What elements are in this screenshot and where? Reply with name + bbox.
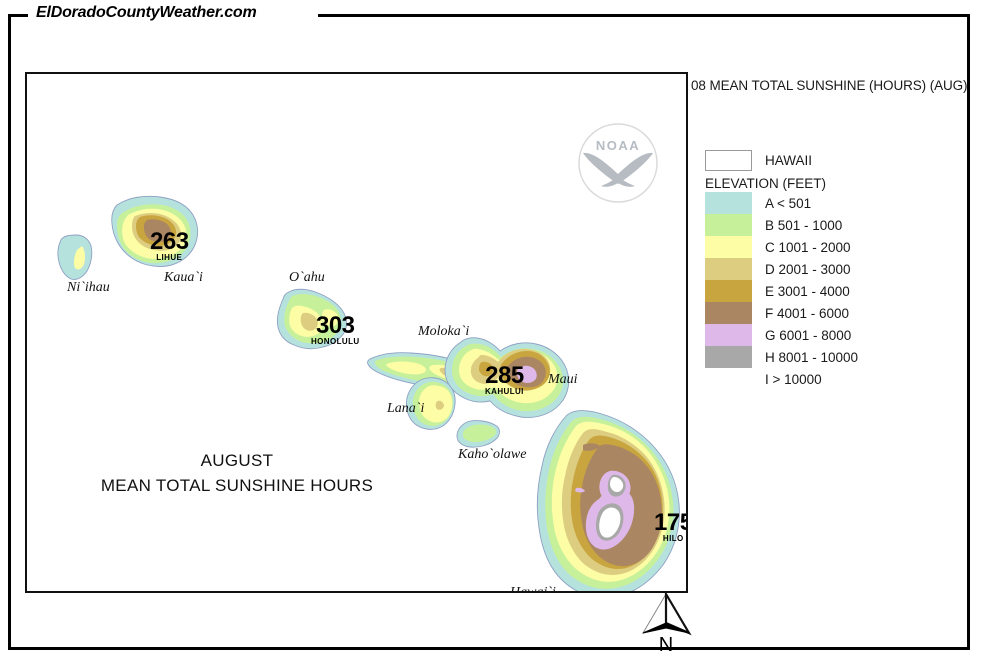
legend-swatch-e [705,280,752,302]
station-label-lihue: 263 LIHUE [150,231,189,262]
legend-row-c: C 1001 - 2000 [705,236,955,258]
legend-swatch-i [705,368,752,390]
north-arrow: N [637,592,695,654]
legend-row-e: E 3001 - 4000 [705,280,955,302]
map-frame: NOAA [25,72,688,593]
legend-label-b: B 501 - 1000 [765,218,842,233]
station-name: HONOLULU [311,337,360,346]
legend-state-label: HAWAII [765,153,812,168]
island-label-oahu: O`ahu [289,270,325,286]
island-hawaii [537,411,679,593]
legend: HAWAII ELEVATION (FEET) A < 501 B 501 - … [705,148,955,390]
island-label-hawaii: Hawai`i [510,585,556,593]
station-label-honolulu: 303 HONOLULU [311,315,360,346]
legend-state-row: HAWAII [705,148,955,172]
legend-label-a: A < 501 [765,196,811,211]
station-value: 263 [150,231,189,253]
station-value: 303 [311,315,360,337]
legend-row-b: B 501 - 1000 [705,214,955,236]
legend-swatch-c [705,236,752,258]
station-value: 285 [485,365,524,387]
station-value: 175 [654,512,688,534]
legend-swatch-b [705,214,752,236]
legend-row-f: F 4001 - 6000 [705,302,955,324]
legend-label-e: E 3001 - 4000 [765,284,850,299]
legend-label-h: H 8001 - 10000 [765,350,858,365]
legend-swatch-h [705,346,752,368]
legend-row-d: D 2001 - 3000 [705,258,955,280]
station-name: KAHULUI [485,387,524,396]
island-label-niihau: Ni`ihau [67,280,110,296]
legend-elevation-rows: A < 501 B 501 - 1000 C 1001 - 2000 D 200… [705,192,955,390]
legend-state-swatch [705,150,752,171]
island-kahoolawe [457,421,500,448]
legend-label-f: F 4001 - 6000 [765,306,849,321]
legend-swatch-d [705,258,752,280]
island-label-molokai: Moloka`i [418,324,469,340]
legend-subtitle: ELEVATION (FEET) [705,176,955,191]
legend-row-i: I > 10000 [705,368,955,390]
island-label-kauai: Kaua`i [164,270,203,286]
site-title: ElDoradoCountyWeather.com [36,4,257,22]
legend-swatch-f [705,302,752,324]
station-label-kahului: 285 KAHULUI [485,365,524,396]
legend-label-d: D 2001 - 3000 [765,262,851,277]
legend-row-h: H 8001 - 10000 [705,346,955,368]
legend-row-a: A < 501 [705,192,955,214]
legend-swatch-a [705,192,752,214]
legend-swatch-g [705,324,752,346]
north-arrow-icon [637,592,695,636]
map-title-measure: MEAN TOTAL SUNSHINE HOURS [27,473,447,498]
legend-label-i: I > 10000 [765,372,822,387]
legend-row-g: G 6001 - 8000 [705,324,955,346]
station-label-hilo: 175 HILO [654,512,688,543]
legend-label-c: C 1001 - 2000 [765,240,851,255]
island-label-lanai: Lana`i [387,401,424,417]
island-label-kahoolawe: Kaho`olawe [458,447,526,463]
map-title-block: AUGUST MEAN TOTAL SUNSHINE HOURS [27,448,447,498]
map-title-month: AUGUST [27,448,447,473]
map-page: ElDoradoCountyWeather.com 08 MEAN TOTAL … [0,0,981,661]
island-niihau [58,235,92,280]
north-arrow-letter: N [637,636,695,654]
island-label-maui: Maui [548,372,578,388]
map-header-caption: 08 MEAN TOTAL SUNSHINE (HOURS) (AUG) [691,78,967,93]
legend-label-g: G 6001 - 8000 [765,328,851,343]
